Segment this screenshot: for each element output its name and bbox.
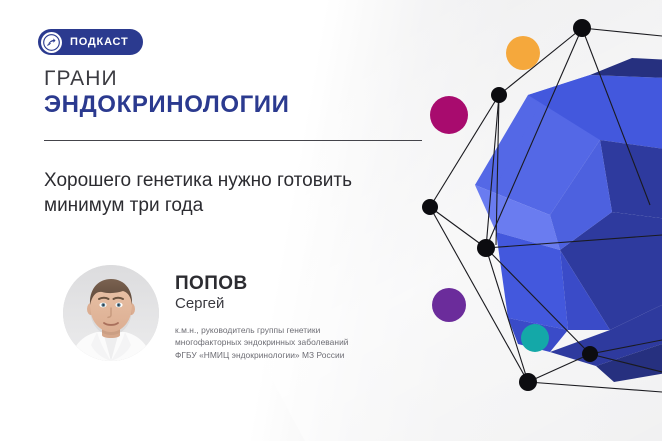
- speaker-info: ПОПОВ Сергей к.м.н., руководитель группы…: [175, 265, 349, 361]
- show-title: ГРАНИ ЭНДОКРИНОЛОГИИ: [44, 68, 290, 117]
- episode-headline: Хорошего генетика нужно готовить минимум…: [44, 168, 434, 218]
- hand-pointer-icon: [41, 32, 62, 53]
- title-divider: [44, 140, 422, 141]
- speaker-avatar: [63, 265, 159, 361]
- speaker-block: ПОПОВ Сергей к.м.н., руководитель группы…: [63, 265, 349, 361]
- podcast-badge-label: ПОДКАСТ: [70, 37, 129, 48]
- speaker-credentials: к.м.н., руководитель группы генетики мно…: [175, 324, 349, 361]
- podcast-badge[interactable]: ПОДКАСТ: [38, 29, 143, 55]
- show-title-line-2: ЭНДОКРИНОЛОГИИ: [44, 93, 290, 117]
- speaker-last-name: ПОПОВ: [175, 274, 349, 294]
- podcast-episode-card: ПОДКАСТ ГРАНИ ЭНДОКРИНОЛОГИИ Хорошего ге…: [0, 0, 662, 441]
- speaker-first-name: Сергей: [175, 295, 349, 314]
- show-title-line-1: ГРАНИ: [44, 68, 290, 89]
